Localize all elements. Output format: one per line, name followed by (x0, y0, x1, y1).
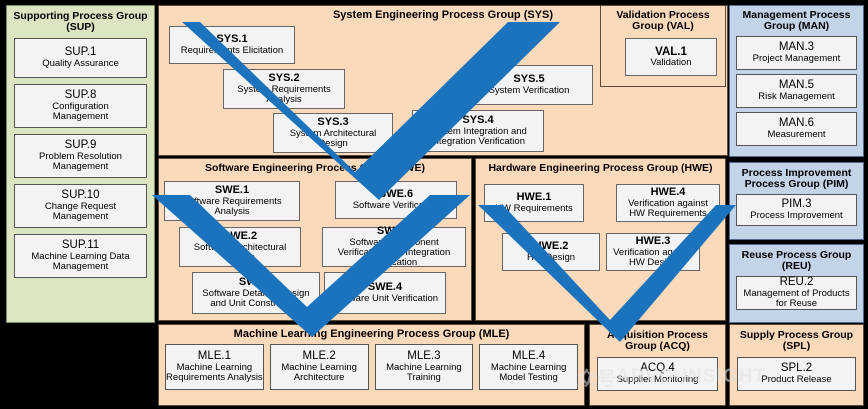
process-box-pim-3[interactable]: PIM.3 Process Improvement (736, 194, 857, 226)
process-name: Problem Resolution Management (18, 152, 144, 173)
process-id: SWE.5 (377, 226, 411, 238)
process-id: PIM.3 (781, 198, 811, 211)
process-box-hwe-1[interactable]: HWE.1 HW Requirements (484, 184, 584, 222)
group-val-title: Validation Process Group (VAL) (601, 6, 725, 33)
process-id: MAN.6 (779, 117, 814, 130)
process-id: MLE.1 (198, 350, 231, 363)
diagram-canvas: Supporting Process Group (SUP) SUP.1 Qua… (0, 0, 868, 409)
process-box-sys-1[interactable]: SYS.1 Requirements Elicitation (169, 26, 295, 64)
group-sup-title: Supporting Process Group (SUP) (7, 6, 154, 38)
process-box-man-5[interactable]: MAN.5 Risk Management (736, 74, 857, 108)
group-hwe-title: Hardware Engineering Process Group (HWE) (476, 159, 725, 174)
process-box-swe-2[interactable]: SWE.2 Software Architectural Design (179, 227, 301, 267)
process-id: SPL.2 (781, 362, 812, 375)
process-id: MLE.2 (303, 350, 336, 363)
background-block-top (0, 0, 868, 4)
process-box-mle-4[interactable]: MLE.4 Machine Learning Model Testing (479, 344, 578, 390)
process-name: Product Release (761, 375, 831, 385)
process-name: Software Detailed Design and Unit Constr… (195, 289, 317, 309)
process-id: SUP.10 (61, 189, 99, 202)
process-name: Machine Learning Training (376, 363, 473, 384)
process-name: Management of Products for Reuse (737, 289, 856, 310)
process-name: Change Request Management (27, 202, 135, 223)
process-id: MAN.5 (779, 79, 814, 92)
group-man: Management Process Group (MAN) MAN.3 Pro… (729, 5, 864, 157)
process-name: Software Component Verification and Inte… (325, 238, 463, 268)
group-hwe: Hardware Engineering Process Group (HWE)… (475, 158, 726, 321)
group-pim-title: Process Improvement Process Group (PIM) (730, 163, 863, 194)
process-box-sup-9[interactable]: SUP.9 Problem Resolution Management (14, 134, 147, 178)
process-box-sys-3[interactable]: SYS.3 System Architectural Design (273, 113, 393, 153)
group-man-title: Management Process Group (MAN) (730, 6, 863, 36)
process-name: Configuration Management (27, 102, 135, 123)
process-box-spl-2[interactable]: SPL.2 Product Release (737, 357, 856, 391)
process-box-sup-8[interactable]: SUP.8 Configuration Management (14, 84, 147, 128)
process-name: Project Management (753, 54, 841, 64)
process-name: HW Requirements (495, 204, 573, 214)
process-box-sup-11[interactable]: SUP.11 Machine Learning Data Management (14, 234, 147, 278)
process-name: Machine Learning Requirements Analysis (166, 363, 263, 384)
process-id: MLE.3 (407, 350, 440, 363)
process-name: Software Architectural Design (182, 243, 298, 263)
process-name: Machine Learning Data Management (17, 252, 145, 273)
process-name: HW Design (527, 253, 575, 263)
process-name: Software Verification (353, 201, 440, 211)
process-id: ACQ.4 (640, 362, 675, 375)
process-name: System Requirements Analysis (226, 85, 342, 105)
group-mle: Machine Learning Engineering Process Gro… (158, 324, 585, 406)
process-box-swe-1[interactable]: SWE.1 Software Requirements Analysis (164, 181, 300, 221)
process-name: System Verification (489, 86, 570, 96)
group-reu-title: Reuse Process Group (REU) (730, 245, 863, 276)
process-box-swe-5[interactable]: SWE.5 Software Component Verification an… (322, 227, 466, 267)
process-name: Software Unit Verification (332, 294, 438, 304)
process-name: Software Requirements Analysis (167, 197, 297, 217)
group-reu: Reuse Process Group (REU) REU.2 Manageme… (729, 244, 864, 323)
process-name: Machine Learning Architecture (271, 363, 368, 384)
process-name: Measurement (767, 130, 825, 140)
process-name: Validation (650, 58, 691, 68)
process-box-swe-4[interactable]: SWE.4 Software Unit Verification (324, 272, 446, 314)
group-mle-title: Machine Learning Engineering Process Gro… (159, 325, 584, 344)
process-name: Verification against HW Requirements (619, 199, 717, 219)
process-id: SUP.9 (65, 139, 97, 152)
process-box-acq-4[interactable]: ACQ.4 Supplier Monitoring (597, 357, 718, 391)
process-id: SUP.1 (65, 46, 97, 59)
group-val: Validation Process Group (VAL) VAL.1 Val… (600, 5, 726, 87)
process-name: Risk Management (758, 92, 835, 102)
group-pim: Process Improvement Process Group (PIM) … (729, 162, 864, 240)
process-box-swe-6[interactable]: SWE.6 Software Verification (335, 181, 457, 219)
process-box-man-6[interactable]: MAN.6 Measurement (736, 112, 857, 146)
process-box-mle-2[interactable]: MLE.2 Machine Learning Architecture (270, 344, 369, 390)
process-name: Supplier Monitoring (617, 375, 699, 385)
process-name: Requirements Elicitation (181, 46, 283, 56)
process-id: SUP.8 (65, 89, 97, 102)
group-acq-title: Acquisition Process Group (ACQ) (590, 325, 725, 357)
process-name: System Integration and Integration Verif… (415, 127, 541, 147)
process-id: REU.2 (780, 276, 814, 289)
process-box-sys-2[interactable]: SYS.2 System Requirements Analysis (223, 69, 345, 109)
group-sup: Supporting Process Group (SUP) SUP.1 Qua… (6, 5, 155, 323)
process-box-mle-3[interactable]: MLE.3 Machine Learning Training (375, 344, 474, 390)
process-name: Quality Assurance (42, 59, 119, 69)
process-box-reu-2[interactable]: REU.2 Management of Products for Reuse (736, 276, 857, 310)
process-box-val-1[interactable]: VAL.1 Validation (625, 38, 717, 76)
group-spl-title: Supply Process Group (SPL) (730, 325, 863, 357)
process-name: System Architectural Design (276, 129, 390, 149)
process-box-sup-1[interactable]: SUP.1 Quality Assurance (14, 38, 147, 78)
group-swe-title: Software Engineering Process Group (SWE) (159, 159, 471, 174)
group-spl: Supply Process Group (SPL) SPL.2 Product… (729, 324, 864, 406)
process-id: MAN.3 (779, 41, 814, 54)
background-block-bottom-left (0, 323, 155, 409)
process-box-sys-4[interactable]: SYS.4 System Integration and Integration… (412, 110, 544, 152)
process-id: SUP.11 (62, 239, 99, 252)
process-box-hwe-3[interactable]: HWE.3 Verification against HW Design (606, 233, 700, 271)
process-box-mle-1[interactable]: MLE.1 Machine Learning Requirements Anal… (165, 344, 264, 390)
process-name: Verification against HW Design (609, 248, 697, 268)
process-name: Process Improvement (750, 211, 842, 221)
process-box-swe-3[interactable]: SWE.3 Software Detailed Design and Unit … (192, 272, 320, 314)
process-box-hwe-4[interactable]: HWE.4 Verification against HW Requiremen… (616, 184, 720, 222)
group-swe: Software Engineering Process Group (SWE)… (158, 158, 472, 321)
process-box-man-3[interactable]: MAN.3 Project Management (736, 36, 857, 70)
process-id: MLE.4 (512, 350, 545, 363)
process-box-hwe-2[interactable]: HWE.2 HW Design (502, 233, 600, 271)
process-box-sys-5[interactable]: SYS.5 System Verification (465, 65, 593, 105)
group-acq: Acquisition Process Group (ACQ) ACQ.4 Su… (589, 324, 726, 406)
process-name: Machine Learning Model Testing (480, 363, 577, 384)
process-box-sup-10[interactable]: SUP.10 Change Request Management (14, 184, 147, 228)
